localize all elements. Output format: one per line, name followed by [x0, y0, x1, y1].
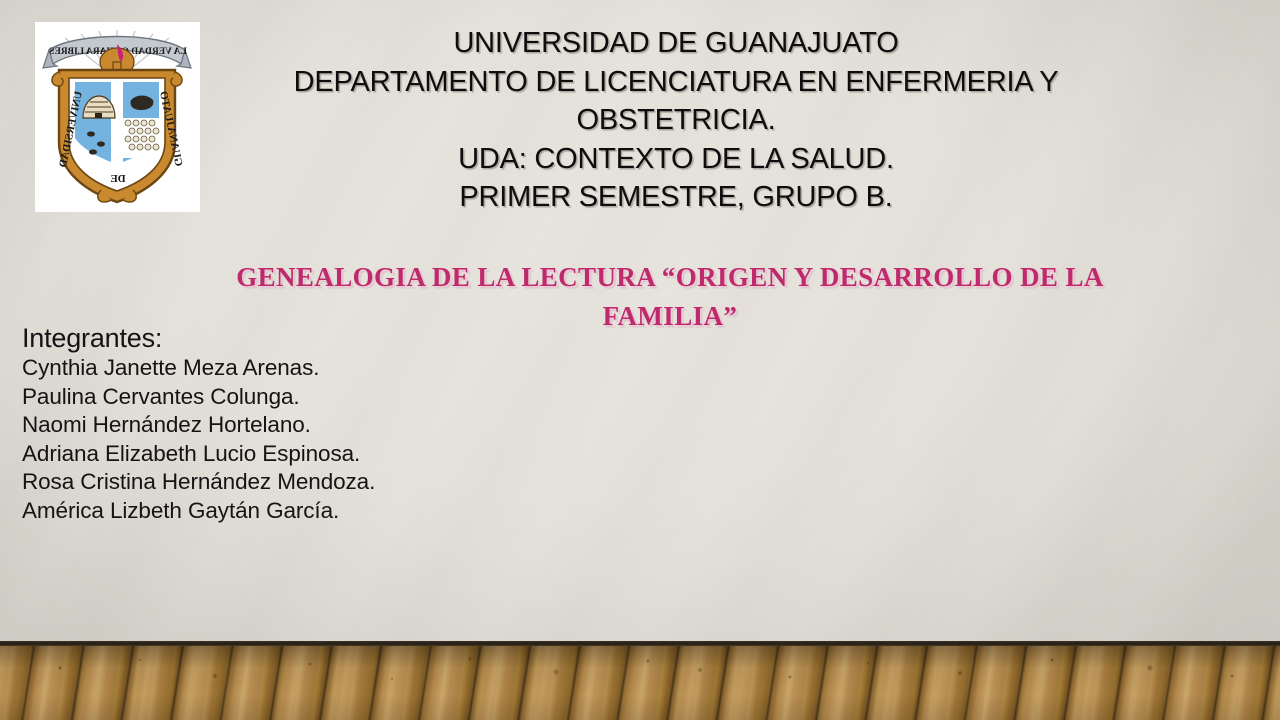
members-heading: Integrantes: [22, 322, 642, 354]
university-logo: LA VERDAD OS HARA LIBRES [35, 22, 200, 212]
page-title: UNIVERSIDAD DE GUANAJUATO DEPARTAMENTO D… [214, 24, 1138, 217]
list-item: Cynthia Janette Meza Arenas. [22, 354, 642, 383]
wooden-floor [0, 646, 1280, 720]
members-section: Integrantes: Cynthia Janette Meza Arenas… [22, 322, 642, 526]
list-item: Naomi Hernández Hortelano. [22, 411, 642, 440]
coat-of-arms-icon: LA VERDAD OS HARA LIBRES [35, 22, 200, 212]
floor-shading [0, 646, 1280, 720]
svg-text:DE: DE [110, 173, 125, 185]
list-item: América Lizbeth Gaytán García. [22, 497, 642, 526]
presentation-slide: LA VERDAD OS HARA LIBRES [0, 0, 1280, 720]
list-item: Adriana Elizabeth Lucio Espinosa. [22, 440, 642, 469]
list-item: Rosa Cristina Hernández Mendoza. [22, 468, 642, 497]
list-item: Paulina Cervantes Colunga. [22, 383, 642, 412]
